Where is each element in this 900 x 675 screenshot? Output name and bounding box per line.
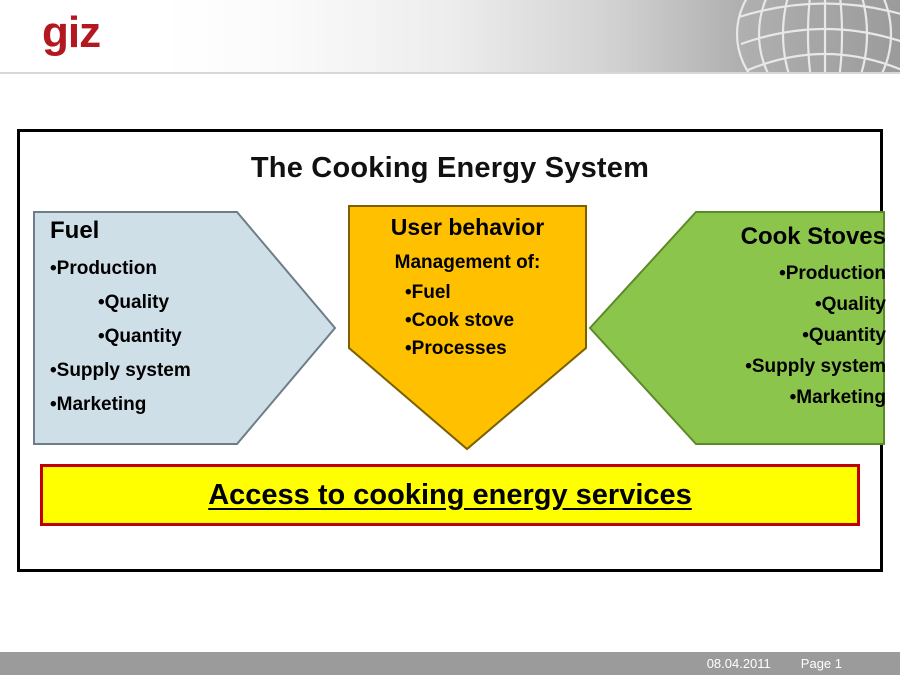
slide-header: giz: [0, 0, 900, 72]
pillar-user-behavior-shape: [347, 204, 588, 451]
access-banner-text: Access to cooking energy services: [208, 479, 692, 512]
footer-date: 08.04.2011: [707, 656, 771, 671]
header-divider: [0, 72, 900, 74]
pillar-cook-stoves-shape: [588, 210, 886, 446]
pillar-user-behavior[interactable]: User behavior Management of: •Fuel •Cook…: [347, 204, 588, 451]
footer-page-number: Page 1: [801, 656, 842, 671]
wireframe-globe-icon: [730, 0, 900, 72]
diagram-title: The Cooking Energy System: [20, 152, 880, 185]
giz-logo: giz: [42, 8, 100, 58]
pillar-fuel-shape: [32, 210, 337, 446]
diagram-frame: The Cooking Energy System Fuel •Producti…: [17, 129, 883, 572]
pillar-cook-stoves[interactable]: Cook Stoves •Production •Quality •Quanti…: [588, 210, 886, 446]
access-banner[interactable]: Access to cooking energy services: [40, 464, 860, 526]
pillar-fuel[interactable]: Fuel •Production •Quality •Quantity •Sup…: [32, 210, 337, 446]
slide-footer: 08.04.2011 Page 1: [0, 652, 900, 675]
